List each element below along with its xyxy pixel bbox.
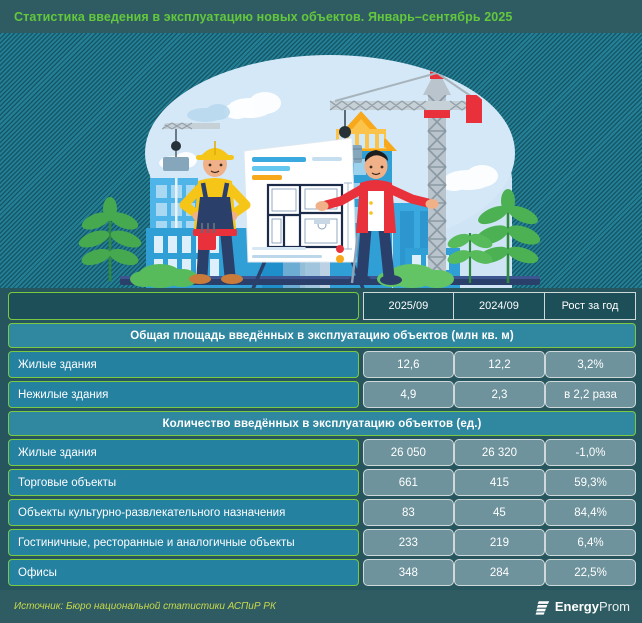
row-label: Объекты культурно-развлекательного назна… <box>8 499 359 526</box>
source-note: Источник: Бюро национальной статистики А… <box>14 601 276 612</box>
section-title-area: Количество введённых в эксплуатацию объе… <box>8 411 636 436</box>
cell-2024: 26 320 <box>454 439 545 466</box>
cell-2025: 4,9 <box>363 381 454 408</box>
cell-growth: 6,4% <box>545 529 636 556</box>
cell-2024: 284 <box>454 559 545 586</box>
cell-2025: 12,6 <box>363 351 454 378</box>
row-label: Офисы <box>8 559 359 586</box>
cell-2025: 233 <box>363 529 454 556</box>
plant-icon <box>77 197 144 281</box>
cell-2024: 2,3 <box>454 381 545 408</box>
table-row: Торговые объекты 661 415 59,3% <box>8 469 636 496</box>
cell-2024: 45 <box>454 499 545 526</box>
row-label: Гостиничные, ресторанные и аналогичные о… <box>8 529 359 556</box>
page-title: Статистика введения в эксплуатацию новых… <box>14 10 512 24</box>
header-blank-cell <box>8 292 359 320</box>
section-title-area: Общая площадь введённых в эксплуатацию о… <box>8 323 636 348</box>
energyprom-logo[interactable]: EnergyProm <box>535 599 630 615</box>
table-row: Жилые здания 26 050 26 320 -1,0% <box>8 439 636 466</box>
cell-growth: в 2,2 раза <box>545 381 636 408</box>
footer-bar: Источник: Бюро национальной статистики А… <box>0 590 642 623</box>
cell-growth: 84,4% <box>545 499 636 526</box>
energyprom-mark-icon <box>535 599 551 615</box>
section-band-row: Общая площадь введённых в эксплуатацию о… <box>8 323 636 348</box>
statistics-table-container: 2025/09 2024/09 Рост за год Общая площад… <box>0 288 642 590</box>
table-row: Офисы 348 284 22,5% <box>8 559 636 586</box>
hero-illustration <box>0 33 642 288</box>
logo-text: EnergyProm <box>555 599 630 614</box>
title-bar: Статистика введения в эксплуатацию новых… <box>0 0 642 33</box>
column-header-2024: 2024/09 <box>454 292 545 320</box>
cell-2025: 26 050 <box>363 439 454 466</box>
cell-growth: -1,0% <box>545 439 636 466</box>
section-band-row: Количество введённых в эксплуатацию объе… <box>8 411 636 436</box>
cell-2025: 348 <box>363 559 454 586</box>
table-row: Объекты культурно-развлекательного назна… <box>8 499 636 526</box>
cell-2025: 83 <box>363 499 454 526</box>
construction-scene-icon <box>0 33 642 288</box>
cell-growth: 3,2% <box>545 351 636 378</box>
statistics-table: 2025/09 2024/09 Рост за год Общая площад… <box>8 292 636 586</box>
cell-2025: 661 <box>363 469 454 496</box>
infographic-poster: Статистика введения в эксплуатацию новых… <box>0 0 642 623</box>
table-row: Нежилые здания 4,9 2,3 в 2,2 раза <box>8 381 636 408</box>
table-row: Жилые здания 12,6 12,2 3,2% <box>8 351 636 378</box>
logo-text-energy: Energy <box>555 599 599 614</box>
cell-growth: 59,3% <box>545 469 636 496</box>
cell-2024: 415 <box>454 469 545 496</box>
table-header-row: 2025/09 2024/09 Рост за год <box>8 292 636 320</box>
logo-text-prom: Prom <box>599 599 630 614</box>
row-label: Торговые объекты <box>8 469 359 496</box>
column-header-2025: 2025/09 <box>363 292 454 320</box>
row-label: Нежилые здания <box>8 381 359 408</box>
cell-growth: 22,5% <box>545 559 636 586</box>
column-header-growth: Рост за год <box>545 292 636 320</box>
row-label: Жилые здания <box>8 439 359 466</box>
table-row: Гостиничные, ресторанные и аналогичные о… <box>8 529 636 556</box>
cell-2024: 219 <box>454 529 545 556</box>
cell-2024: 12,2 <box>454 351 545 378</box>
row-label: Жилые здания <box>8 351 359 378</box>
